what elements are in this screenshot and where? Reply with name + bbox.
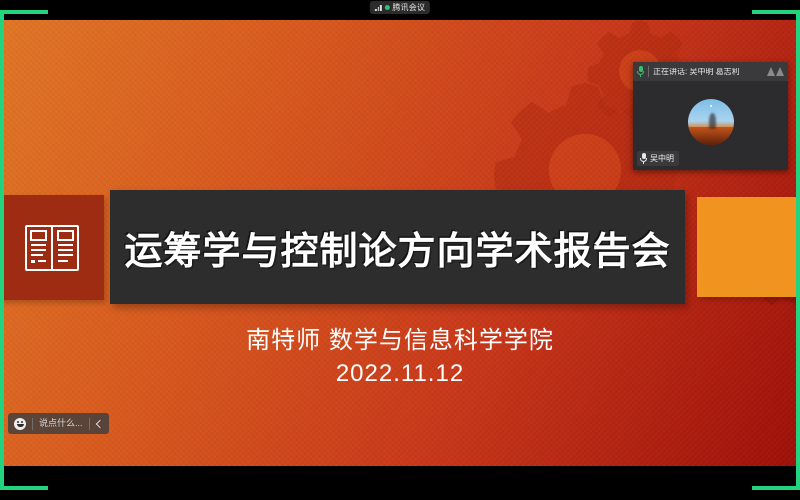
app-name-label: 腾讯会议 bbox=[392, 4, 425, 12]
screen-share-border-top-left bbox=[0, 10, 48, 14]
audio-waveform-icon bbox=[767, 67, 784, 76]
recording-dot-icon bbox=[384, 5, 389, 10]
open-book-icon bbox=[23, 222, 81, 274]
slide-title: 运筹学与控制论方向学术报告会 bbox=[124, 220, 670, 275]
slide-subtitle: 南特师 数学与信息科学学院 bbox=[0, 320, 800, 355]
chat-input-bar[interactable]: 说点什么... bbox=[8, 413, 109, 434]
speaker-video-body[interactable]: 吴中明 bbox=[633, 81, 788, 170]
slide-accent-tile bbox=[697, 197, 800, 297]
microphone-icon bbox=[637, 66, 644, 77]
chevron-left-icon bbox=[95, 419, 103, 427]
participant-name-tag: 吴中明 bbox=[637, 151, 679, 166]
chat-placeholder-text: 说点什么... bbox=[39, 419, 83, 428]
letterbox-bottom bbox=[0, 466, 800, 500]
slide-title-band: 运筹学与控制论方向学术报告会 bbox=[110, 190, 685, 304]
slide-date: 2022.11.12 bbox=[0, 360, 800, 388]
emoji-button[interactable] bbox=[8, 413, 32, 434]
microphone-icon bbox=[640, 153, 647, 164]
speaker-video-panel[interactable]: 正在讲话: 吴中明 葛志利 吴中明 bbox=[633, 62, 788, 170]
signal-bars-icon bbox=[375, 4, 382, 11]
emoji-face-icon bbox=[14, 418, 26, 430]
speaking-now-label: 正在讲话: 吴中明 葛志利 bbox=[653, 68, 763, 76]
header-divider bbox=[648, 66, 649, 77]
meeting-status-pill[interactable]: 腾讯会议 bbox=[370, 1, 430, 14]
slide-icon-tile bbox=[0, 195, 104, 300]
chat-collapse-button[interactable] bbox=[90, 413, 109, 434]
chat-input[interactable]: 说点什么... bbox=[33, 413, 89, 434]
participant-name: 吴中明 bbox=[650, 155, 674, 163]
avatar bbox=[688, 99, 734, 145]
shared-slide: 运筹学与控制论方向学术报告会 南特师 数学与信息科学学院 2022.11.12 … bbox=[0, 20, 800, 466]
screen-share-border-top-right bbox=[752, 10, 800, 14]
speaker-video-header: 正在讲话: 吴中明 葛志利 bbox=[633, 62, 788, 81]
meeting-screen: 腾讯会议 bbox=[0, 0, 800, 500]
